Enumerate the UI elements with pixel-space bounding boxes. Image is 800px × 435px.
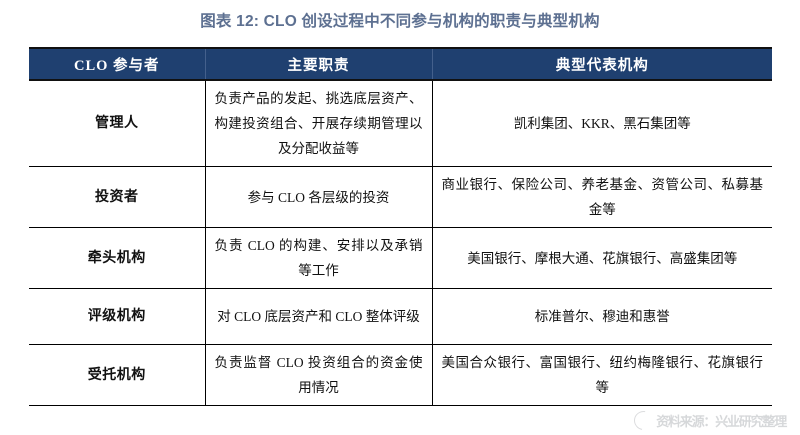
watermark-text: 资料来源：兴业研究整理 xyxy=(656,411,786,430)
cell-duty: 负责产品的发起、挑选底层资产、构建投资组合、开展存续期管理以及分配收益等 xyxy=(205,80,432,167)
cell-institution-text: 美国合众银行、富国银行、纽约梅隆银行、花旗银行等 xyxy=(442,350,764,400)
source-watermark: 资料来源：兴业研究整理 xyxy=(634,411,786,430)
cell-role-text: 管理人 xyxy=(38,111,196,136)
cell-institution: 商业银行、保险公司、养老基金、资管公司、私募基金等 xyxy=(432,167,772,228)
cell-duty: 负责监督 CLO 投资组合的资金使用情况 xyxy=(205,345,432,406)
cell-duty: 对 CLO 底层资产和 CLO 整体评级 xyxy=(205,289,432,345)
cell-role-text: 评级机构 xyxy=(38,304,196,329)
table-header: CLO 参与者 主要职责 典型代表机构 xyxy=(29,48,772,80)
cell-role: 管理人 xyxy=(29,80,205,167)
cell-role-text: 受托机构 xyxy=(38,363,196,388)
cell-duty-text: 负责 CLO 的构建、安排以及承销等工作 xyxy=(215,233,423,283)
table-row: 牵头机构 负责 CLO 的构建、安排以及承销等工作 美国银行、摩根大通、花旗银行… xyxy=(29,228,772,289)
cell-role: 受托机构 xyxy=(29,345,205,406)
cell-institution-text: 凯利集团、KKR、黑石集团等 xyxy=(442,111,764,136)
data-table-container: CLO 参与者 主要职责 典型代表机构 管理人 负责产品的发起、挑选底层资产、构… xyxy=(29,47,772,406)
cell-institution: 美国银行、摩根大通、花旗银行、高盛集团等 xyxy=(432,228,772,289)
table-row: 受托机构 负责监督 CLO 投资组合的资金使用情况 美国合众银行、富国银行、纽约… xyxy=(29,345,772,406)
cell-institution-text: 美国银行、摩根大通、花旗银行、高盛集团等 xyxy=(442,246,764,271)
table-header-row: CLO 参与者 主要职责 典型代表机构 xyxy=(29,48,772,80)
arc-logo-icon xyxy=(630,407,656,433)
column-header-role: CLO 参与者 xyxy=(29,48,205,80)
cell-duty-text: 负责监督 CLO 投资组合的资金使用情况 xyxy=(215,350,423,400)
cell-role: 投资者 xyxy=(29,167,205,228)
cell-institution: 标准普尔、穆迪和惠誉 xyxy=(432,289,772,345)
table-row: 管理人 负责产品的发起、挑选底层资产、构建投资组合、开展存续期管理以及分配收益等… xyxy=(29,80,772,167)
cell-role-text: 牵头机构 xyxy=(38,246,196,271)
cell-institution-text: 标准普尔、穆迪和惠誉 xyxy=(442,304,764,329)
table-row: 投资者 参与 CLO 各层级的投资 商业银行、保险公司、养老基金、资管公司、私募… xyxy=(29,167,772,228)
cell-duty-text: 参与 CLO 各层级的投资 xyxy=(215,185,423,210)
column-header-institution: 典型代表机构 xyxy=(432,48,772,80)
cell-institution: 凯利集团、KKR、黑石集团等 xyxy=(432,80,772,167)
cell-duty: 负责 CLO 的构建、安排以及承销等工作 xyxy=(205,228,432,289)
chart-page: 图表 12: CLO 创设过程中不同参与机构的职责与典型机构 CLO 参与者 主… xyxy=(0,0,800,435)
cell-duty-text: 对 CLO 底层资产和 CLO 整体评级 xyxy=(215,304,423,329)
column-header-duty: 主要职责 xyxy=(205,48,432,80)
cell-duty-text: 负责产品的发起、挑选底层资产、构建投资组合、开展存续期管理以及分配收益等 xyxy=(215,86,423,161)
page-title: 图表 12: CLO 创设过程中不同参与机构的职责与典型机构 xyxy=(0,11,800,33)
table-row: 评级机构 对 CLO 底层资产和 CLO 整体评级 标准普尔、穆迪和惠誉 xyxy=(29,289,772,345)
cell-role: 评级机构 xyxy=(29,289,205,345)
cell-institution-text: 商业银行、保险公司、养老基金、资管公司、私募基金等 xyxy=(442,172,764,222)
cell-institution: 美国合众银行、富国银行、纽约梅隆银行、花旗银行等 xyxy=(432,345,772,406)
cell-duty: 参与 CLO 各层级的投资 xyxy=(205,167,432,228)
participants-table: CLO 参与者 主要职责 典型代表机构 管理人 负责产品的发起、挑选底层资产、构… xyxy=(29,47,772,406)
table-body: 管理人 负责产品的发起、挑选底层资产、构建投资组合、开展存续期管理以及分配收益等… xyxy=(29,80,772,406)
cell-role-text: 投资者 xyxy=(38,185,196,210)
cell-role: 牵头机构 xyxy=(29,228,205,289)
